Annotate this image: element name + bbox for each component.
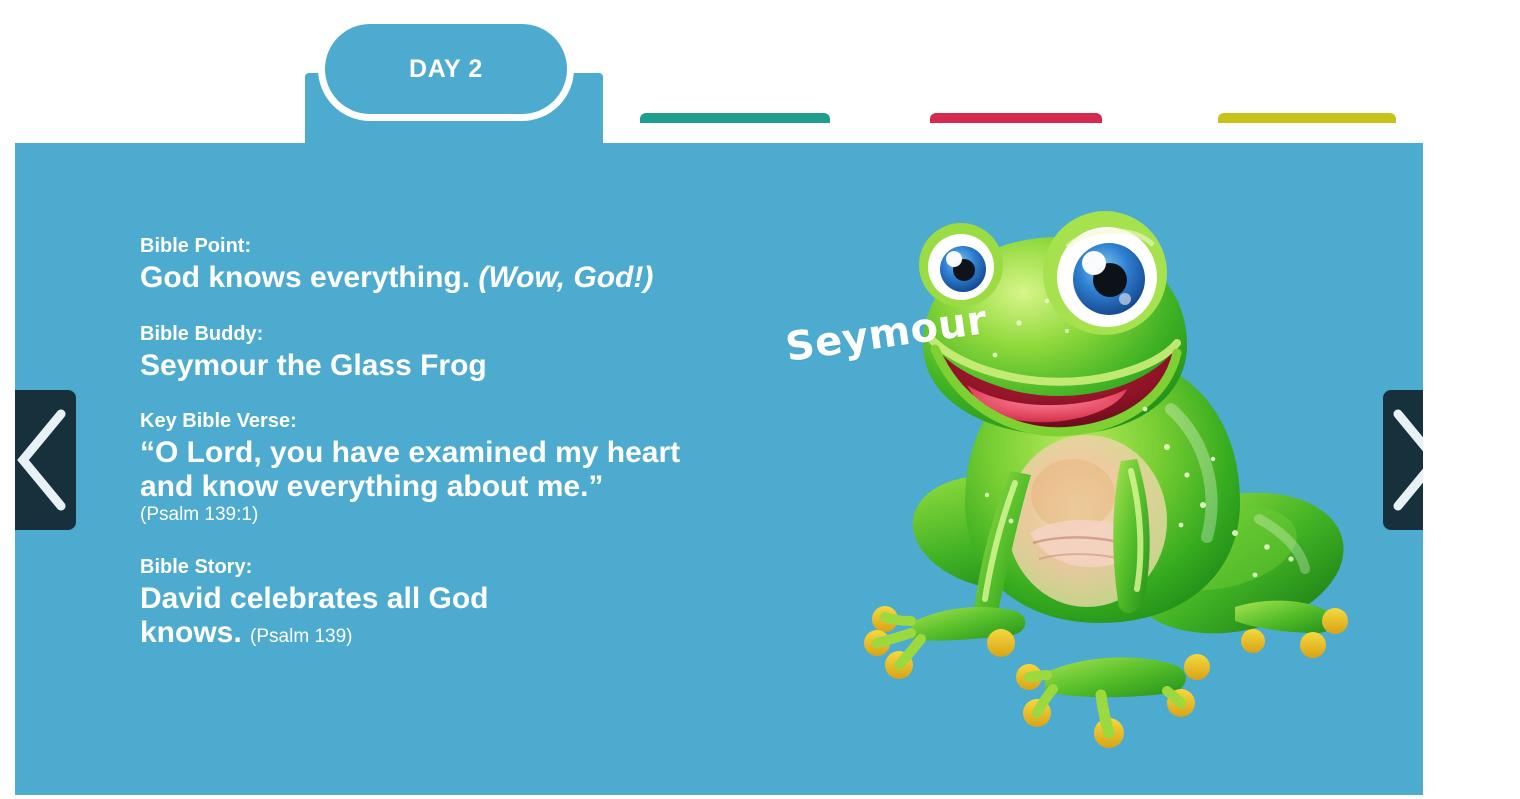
bible-point-value: God knows everything. (Wow, God!) bbox=[140, 261, 800, 295]
key-bible-verse-block: Key Bible Verse: “O Lord, you have exami… bbox=[140, 408, 800, 528]
tab-strip-green[interactable] bbox=[640, 113, 830, 123]
prev-day-button[interactable] bbox=[15, 390, 76, 530]
chevron-left-icon bbox=[23, 414, 61, 506]
key-bible-verse-label: Key Bible Verse: bbox=[140, 408, 800, 434]
seymour-frog-illustration bbox=[815, 203, 1375, 795]
key-bible-verse-value: “O Lord, you have examined my heart and … bbox=[140, 436, 800, 503]
key-bible-verse-reference: (Psalm 139:1) bbox=[140, 503, 800, 528]
lesson-text-column: Bible Point: God knows everything. (Wow,… bbox=[140, 233, 800, 649]
lesson-panel: Bible Point: God knows everything. (Wow,… bbox=[15, 143, 1423, 795]
bible-story-line-1: David celebrates all God bbox=[140, 582, 800, 616]
key-bible-verse-line-2: and know everything about me.” bbox=[140, 470, 800, 504]
bible-point-label: Bible Point: bbox=[140, 233, 800, 259]
chevron-right-icon bbox=[1398, 414, 1423, 506]
bible-buddy-block: Bible Buddy: Seymour the Glass Frog bbox=[140, 321, 800, 383]
tab-day-2-label: DAY 2 bbox=[409, 55, 483, 84]
bible-buddy-value: Seymour the Glass Frog bbox=[140, 349, 800, 383]
bible-story-block: Bible Story: David celebrates all God kn… bbox=[140, 554, 800, 649]
key-bible-verse-line-1: “O Lord, you have examined my heart bbox=[140, 436, 800, 470]
bible-story-value: David celebrates all God knows. (Psalm 1… bbox=[140, 582, 800, 649]
tab-strip-yellow[interactable] bbox=[1218, 113, 1396, 123]
bible-point-text: God knows everything. bbox=[140, 261, 470, 294]
bible-story-line-2: knows. bbox=[140, 616, 242, 649]
tab-day-2[interactable]: DAY 2 bbox=[325, 24, 567, 114]
bible-story-reference: (Psalm 139) bbox=[250, 626, 352, 647]
bible-point-parenthetical: (Wow, God!) bbox=[478, 261, 653, 294]
bible-point-block: Bible Point: God knows everything. (Wow,… bbox=[140, 233, 800, 295]
bible-buddy-label: Bible Buddy: bbox=[140, 321, 800, 347]
next-day-button[interactable] bbox=[1383, 390, 1423, 530]
bible-story-label: Bible Story: bbox=[140, 554, 800, 580]
tab-strip-red[interactable] bbox=[930, 113, 1102, 123]
slide-stage: DAY 2 Bible Point: God knows everything.… bbox=[0, 0, 1520, 799]
